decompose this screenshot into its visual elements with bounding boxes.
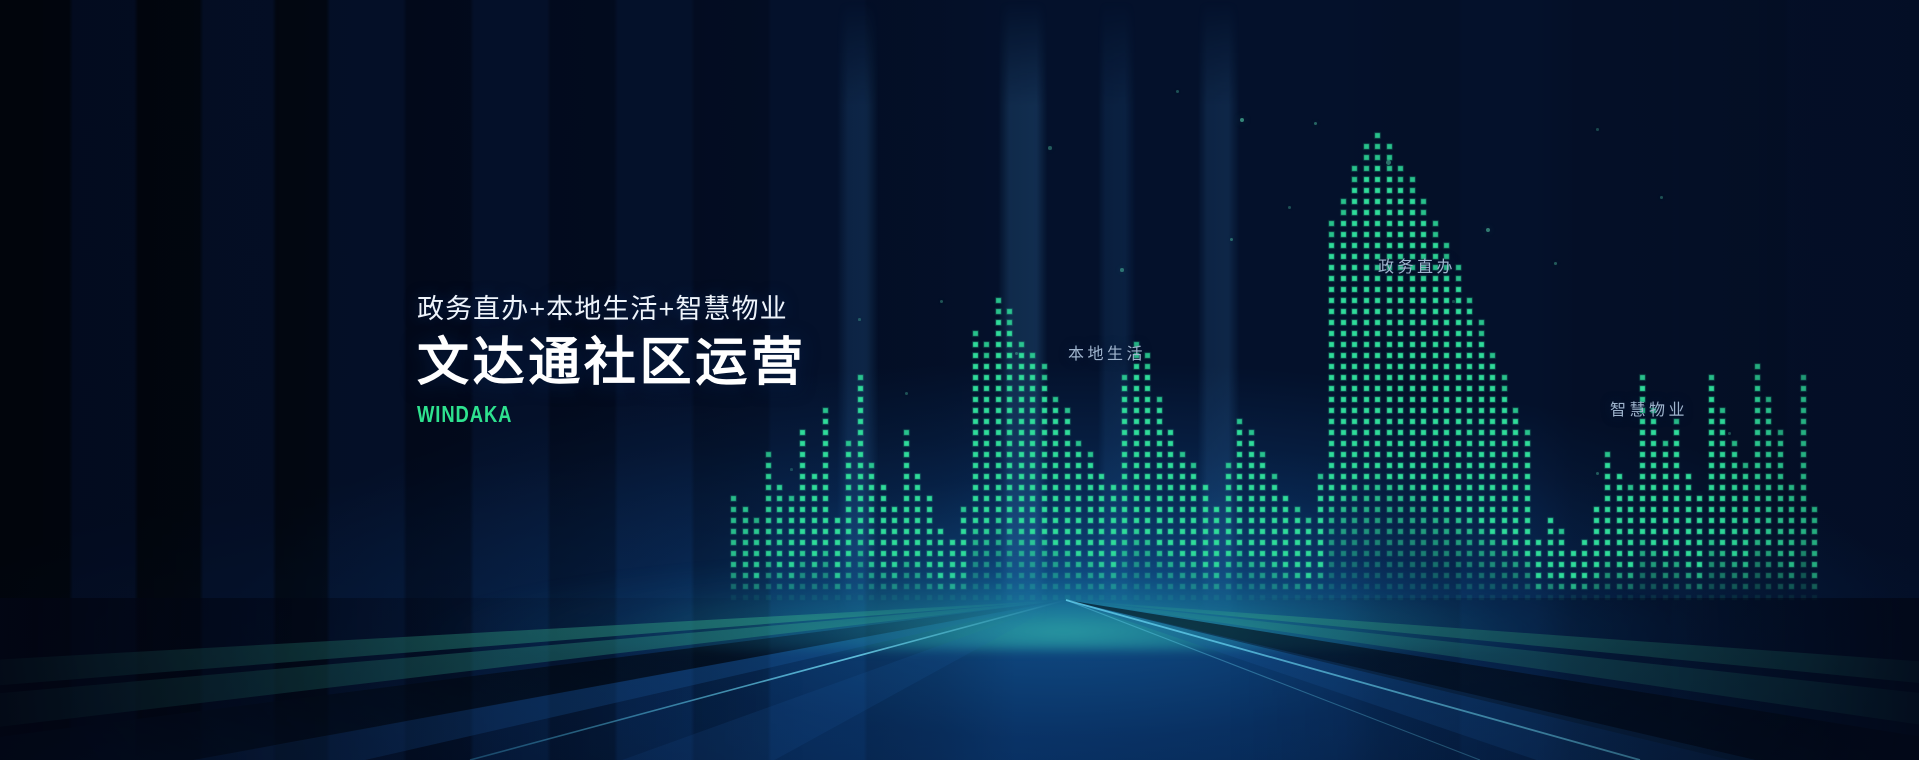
hero-banner: 政务直办+本地生活+智慧物业 文达通社区运营 WINDAKA 政务直办 本地生活…: [0, 0, 1919, 760]
skyline-label-zhihuiwuye: 智慧物业: [1610, 396, 1688, 420]
banner-subtitle: 政务直办+本地生活+智慧物业: [417, 293, 806, 325]
ground-vignette: [0, 598, 1919, 760]
skyline-label-zhengwuzhiban: 政务直办: [1378, 253, 1456, 277]
perspective-ground-plane: [0, 598, 1919, 760]
brand-wordmark: WINDAKA: [417, 401, 729, 428]
headline-block: 政务直办+本地生活+智慧物业 文达通社区运营 WINDAKA: [417, 293, 806, 428]
skyline-label-bendishenghuo: 本地生活: [1068, 340, 1146, 364]
banner-main-title: 文达通社区运营: [417, 334, 806, 392]
